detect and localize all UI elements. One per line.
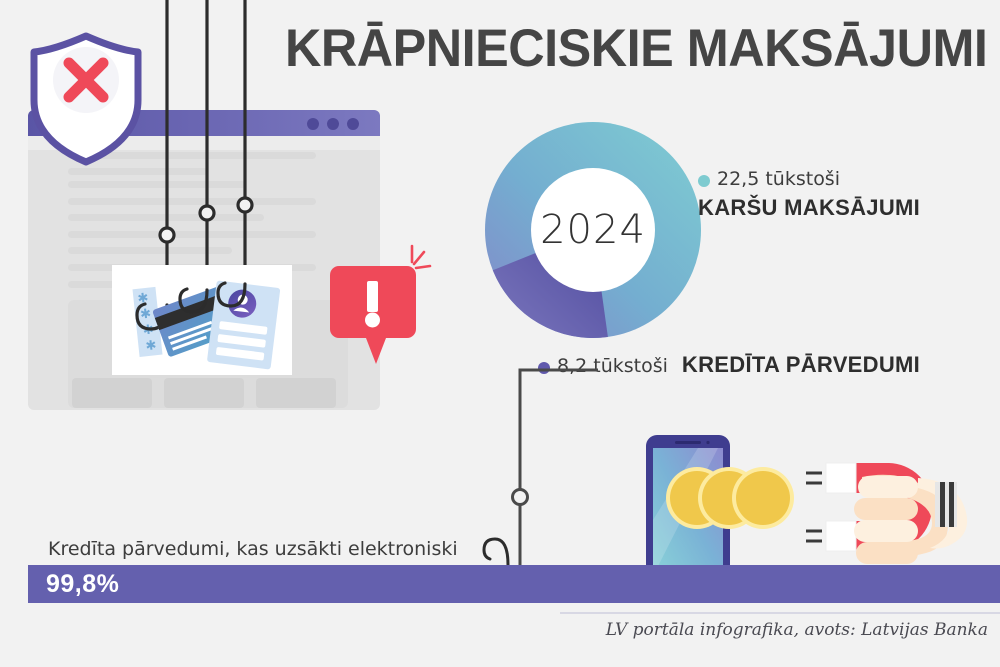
browser-dot — [347, 118, 359, 130]
connector-fishing-line — [470, 360, 600, 590]
page-title: KRĀPNIECISKIE MAKSĀJUMI — [285, 22, 950, 75]
line-ring — [513, 490, 528, 505]
bar-value-label: 99,8% — [46, 570, 119, 599]
coin-group — [666, 467, 794, 529]
bar-caption: Kredīta pārvedumi, kas uzsākti elektroni… — [48, 538, 458, 560]
progress-bar[interactable] — [28, 565, 1000, 603]
donut-year-label: 2024 — [540, 207, 646, 253]
browser-dot — [307, 118, 319, 130]
legend-label-credit: KREDĪTA PĀRVEDUMI — [682, 352, 920, 377]
legend-card-payments[interactable]: 22,5 tūkstoši KARŠU MAKSĀJUMI — [698, 168, 998, 221]
svg-text:✱: ✱ — [139, 307, 151, 323]
donut-chart: 2024 — [483, 120, 703, 340]
alert-sparks — [412, 246, 430, 268]
legend-dot-teal — [698, 175, 710, 187]
phone-camera — [706, 441, 709, 444]
fish-hook — [484, 539, 508, 565]
shield-with-x-icon — [34, 36, 138, 162]
magnet-poles — [806, 473, 822, 541]
field-bars — [935, 482, 957, 527]
footer-credit: LV portāla infografika, avots: Latvijas … — [606, 620, 988, 640]
infographic-canvas: ✱ ✱ ✱ ✱ — [0, 0, 1000, 667]
legend-value-cards: 22,5 tūkstoši — [717, 168, 840, 190]
footer-divider — [560, 612, 1000, 614]
legend-label-cards: KARŠU MAKSĀJUMI — [698, 195, 998, 221]
phone-speaker — [675, 441, 701, 444]
browser-dot — [327, 118, 339, 130]
svg-text:✱: ✱ — [145, 338, 157, 354]
